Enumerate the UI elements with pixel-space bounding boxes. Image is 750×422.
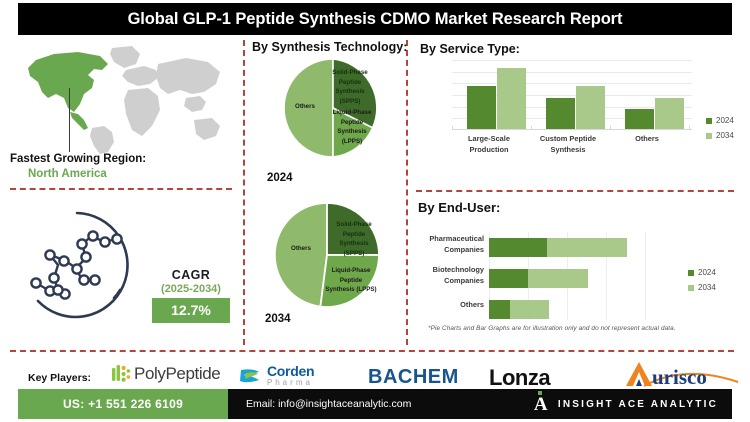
legend-swatch-2034 <box>706 133 712 139</box>
divider-vertical-left <box>243 40 245 345</box>
legend-swatch-2024 <box>688 270 694 276</box>
cagr-value-badge: 12.7% <box>152 298 230 323</box>
stacked-bar-others-2034 <box>510 300 549 319</box>
end-user-category-label-others: Others <box>404 300 484 311</box>
map-region-europe <box>122 66 158 86</box>
end-user-category-label-biotechnology-companies: BiotechnologyCompanies <box>404 265 484 286</box>
map-region-south-america <box>90 126 114 154</box>
stacked-bar-pharmaceutical-companies-2034 <box>547 238 627 257</box>
map-region-africa <box>124 88 160 136</box>
insight-ace-letter-a: A <box>534 395 548 414</box>
section-heading-synthesis-technology: By Synthesis Technology: <box>252 40 407 54</box>
legend-item-2034: 2034 <box>706 131 734 140</box>
gridline <box>645 232 646 320</box>
pie-2024-year-label: 2024 <box>267 172 293 184</box>
axis-tick <box>452 126 453 130</box>
aurisco-icon: urisco <box>622 360 744 388</box>
bar-category-label-others: Others <box>603 134 691 145</box>
pie-2034-year-label: 2034 <box>265 313 291 325</box>
bar-others-2034 <box>655 98 684 130</box>
page-title: Global GLP-1 Peptide Synthesis CDMO Mark… <box>128 10 623 29</box>
pie-slice-2034-others <box>275 203 327 307</box>
axis-tick <box>689 126 690 130</box>
world-map-svg <box>8 42 233 154</box>
divider-left-horizontal <box>10 188 232 190</box>
stacked-bar-others-2024 <box>489 300 510 319</box>
cagr-block: CAGR (2025-2034) 12.7% <box>152 268 230 323</box>
divider-right-horizontal <box>416 190 734 192</box>
map-region-north-america <box>28 52 108 112</box>
logo-aurisco: urisco <box>622 360 744 388</box>
legend-item-2024: 2024 <box>706 116 734 125</box>
footer-brand: A INSIGHT ACE ANALYTIC <box>534 394 718 414</box>
pie-slice-2024-others <box>284 59 333 157</box>
fastest-growing-region-value: North America <box>28 168 107 180</box>
bar-category-label-custom-peptide-synthesis: Custom PeptideSynthesis <box>524 134 612 155</box>
pie-slice-2034-spps <box>327 203 379 255</box>
divider-bottom-horizontal <box>10 350 734 352</box>
bar-custom-peptide-synthesis-2034 <box>576 86 605 129</box>
legend-end-user: 2024 2034 <box>688 268 716 298</box>
logo-bachem: BACHEM <box>368 366 459 389</box>
footer-phone-block[interactable]: US: +1 551 226 6109 <box>18 389 228 419</box>
pie-slice-2034-lpps <box>320 255 379 307</box>
cagr-title: CAGR <box>152 268 230 282</box>
section-heading-end-user: By End-User: <box>418 200 500 215</box>
insight-ace-a-icon: A <box>534 394 549 414</box>
bar-large-scale-production-2034 <box>497 68 526 129</box>
logo-text-polypeptide: PolyPeptide <box>134 364 220 384</box>
logo-text-bachem: BACHEM <box>368 366 459 389</box>
world-map <box>8 42 233 152</box>
cagr-period: (2025-2034) <box>152 283 230 295</box>
logo-text-pharma: P h a r m a <box>267 379 314 387</box>
map-region-australia <box>194 118 220 140</box>
legend-swatch-2024 <box>706 118 712 124</box>
report-title-bar: Global GLP-1 Peptide Synthesis CDMO Mark… <box>18 3 732 35</box>
gridline <box>452 60 692 61</box>
logo-lonza: Lonza <box>489 365 550 391</box>
end-user-bar-chart <box>489 232 667 320</box>
map-region-asia <box>156 58 220 94</box>
polypeptide-icon <box>110 363 132 385</box>
legend-swatch-2034 <box>688 285 694 291</box>
map-pointer-line <box>69 88 70 152</box>
network-graph-icon <box>20 208 135 323</box>
fastest-growing-region-label: Fastest Growing Region: <box>10 153 146 165</box>
legend-item-2034: 2034 <box>688 283 716 292</box>
legend-label-2024: 2024 <box>698 268 716 277</box>
gridline <box>452 83 692 84</box>
end-user-category-label-pharmaceutical-companies: PharmaceuticalCompanies <box>404 234 484 255</box>
stacked-bar-biotechnology-companies-2024 <box>489 269 528 288</box>
map-region-greenland <box>110 46 140 68</box>
logo-polypeptide: PolyPeptide <box>110 363 220 385</box>
bar-custom-peptide-synthesis-2024 <box>546 98 575 130</box>
pie-chart-2024: Solid-PhasePeptideSynthesis(SPPS) Liquid… <box>281 56 385 160</box>
bar-category-label-large-scale-production: Large-ScaleProduction <box>445 134 533 155</box>
axis-tick <box>531 126 532 130</box>
logo-text-lonza: Lonza <box>489 365 550 391</box>
corden-pharma-icon <box>237 365 263 387</box>
legend-label-2034: 2034 <box>698 283 716 292</box>
gridline <box>452 72 692 73</box>
footer-email[interactable]: Email: info@insightaceanalytic.com <box>246 398 411 410</box>
service-type-bar-chart <box>452 60 692 130</box>
stacked-bar-pharmaceutical-companies-2024 <box>489 238 547 257</box>
key-players-label: Key Players: <box>28 372 91 384</box>
svg-text:urisco: urisco <box>652 365 707 388</box>
logo-text-corden: Corden <box>267 364 314 378</box>
pie-chart-2034: Solid-PhasePeptideSynthesis(SPPS) Liquid… <box>272 200 382 310</box>
footer-brand-text: INSIGHT ACE ANALYTIC <box>558 399 718 410</box>
axis-tick <box>610 126 611 130</box>
infographic-page: Global GLP-1 Peptide Synthesis CDMO Mark… <box>0 0 750 422</box>
footer-phone: US: +1 551 226 6109 <box>63 397 183 411</box>
legend-label-2034: 2034 <box>716 131 734 140</box>
axis-baseline <box>452 129 692 130</box>
legend-item-2024: 2024 <box>688 268 716 277</box>
footer-bar: Email: info@insightaceanalytic.com A INS… <box>228 389 732 419</box>
map-region-southeast-asia <box>184 96 206 112</box>
legend-service-type: 2024 2034 <box>706 116 734 146</box>
chart-disclaimer-footnote: *Pie Charts and Bar Graphs are for illus… <box>428 325 676 332</box>
logo-corden-pharma: Corden P h a r m a <box>237 364 314 387</box>
section-heading-service-type: By Service Type: <box>420 42 520 56</box>
bar-others-2024 <box>625 109 654 129</box>
stacked-bar-biotechnology-companies-2034 <box>528 269 588 288</box>
bar-large-scale-production-2024 <box>467 86 496 129</box>
map-region-central-america <box>70 112 88 130</box>
legend-label-2024: 2024 <box>716 116 734 125</box>
